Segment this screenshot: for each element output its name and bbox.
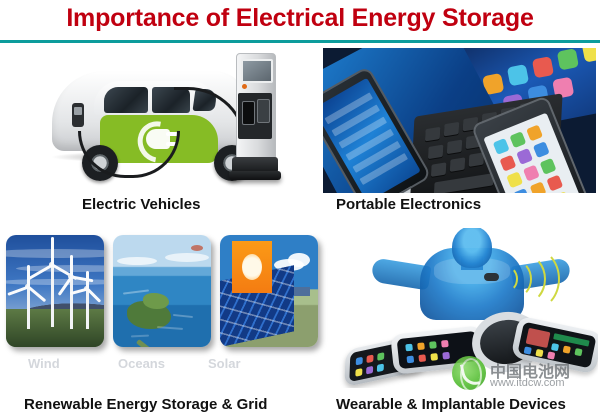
title-divider: [0, 40, 600, 43]
sun-icon: [242, 254, 262, 280]
charging-connector: [72, 103, 84, 127]
charger-socket-left: [242, 101, 255, 125]
renewable-label-oceans: Oceans: [118, 356, 165, 371]
causeway: [136, 339, 211, 347]
renewable-tile-solar: [220, 235, 318, 347]
human-body-figure: [376, 228, 566, 320]
charger-screen-icon: [241, 59, 273, 83]
caption-electric-vehicles: Electric Vehicles: [82, 196, 200, 213]
renewable-label-solar: Solar: [208, 356, 241, 371]
body-head: [452, 228, 492, 268]
portable-electronics-image: [323, 48, 596, 193]
wireless-wave-icon: [508, 248, 560, 310]
watermark: 中国电池网 www.itdcw.com: [452, 356, 592, 394]
slide-root: Importance of Electrical Energy Storage: [0, 0, 600, 418]
charging-station: [232, 53, 278, 183]
renewable-tile-wind: [6, 235, 104, 347]
caption-portable-electronics: Portable Electronics: [336, 196, 481, 213]
charger-socket-right: [257, 99, 270, 123]
watermark-globe-icon: [452, 356, 486, 390]
electric-vehicle-image: [34, 47, 320, 195]
car-window-front: [104, 87, 148, 113]
watermark-url: www.itdcw.com: [490, 377, 565, 389]
renewable-tile-oceans: [113, 235, 211, 347]
caption-wearable-devices: Wearable & Implantable Devices: [336, 396, 566, 413]
page-title: Importance of Electrical Energy Storage: [0, 4, 600, 33]
charger-led-icon: [242, 84, 247, 89]
sun-overlay: [232, 241, 272, 293]
caption-renewable-energy: Renewable Energy Storage & Grid: [24, 396, 267, 413]
renewable-label-wind: Wind: [28, 356, 60, 371]
